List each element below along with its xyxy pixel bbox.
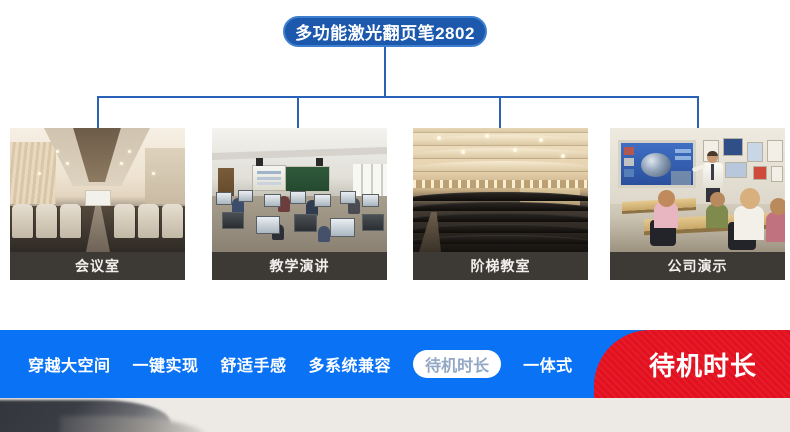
- product-feature-page: 多功能激光翻页笔2802 会议室: [0, 0, 790, 432]
- feature-item-4: 多系统兼容: [309, 352, 392, 376]
- scene-card-classroom-lecture[interactable]: 教学演讲: [212, 128, 387, 280]
- feature-banner: 穿越大空间 一键实现 舒适手感 多系统兼容 待机时长 一体式 待机时长: [0, 330, 790, 398]
- scene-caption: 教学演讲: [212, 252, 387, 280]
- scene-card-corporate-presentation[interactable]: 公司演示: [610, 128, 785, 280]
- red-highlight-panel: 待机时长: [594, 330, 790, 398]
- corporate-presentation-photo: [610, 128, 785, 252]
- feature-item-2: 一键实现: [133, 352, 199, 376]
- standby-time-pill[interactable]: 待机时长: [413, 350, 501, 378]
- conference-room-photo: [10, 128, 185, 252]
- feature-item-3: 舒适手感: [221, 352, 287, 376]
- connector-stem: [384, 47, 386, 97]
- lecture-hall-photo: [413, 128, 588, 252]
- classroom-lecture-photo: [212, 128, 387, 252]
- scene-caption: 公司演示: [610, 252, 785, 280]
- audience-figures: [610, 128, 785, 252]
- red-highlight-label: 待机时长: [594, 330, 790, 398]
- connector-drop-3: [499, 96, 501, 128]
- product-title-badge: 多功能激光翻页笔2802: [283, 16, 487, 47]
- scene-caption: 阶梯教室: [413, 252, 588, 280]
- feature-list: 穿越大空间 一键实现 舒适手感 多系统兼容 待机时长 一体式: [28, 330, 573, 398]
- connector-drop-2: [297, 96, 299, 128]
- connector-horizontal-bar: [97, 96, 698, 98]
- person-arm-shape: [60, 416, 210, 432]
- scene-caption: 会议室: [10, 252, 185, 280]
- connector-drop-4: [697, 96, 699, 128]
- scene-card-lecture-hall[interactable]: 阶梯教室: [413, 128, 588, 280]
- scene-card-conference-room[interactable]: 会议室: [10, 128, 185, 280]
- feature-item-5: 一体式: [523, 352, 573, 376]
- connector-drop-1: [97, 96, 99, 128]
- feature-item-1: 穿越大空间: [28, 352, 111, 376]
- footer-image-strip: [0, 398, 790, 432]
